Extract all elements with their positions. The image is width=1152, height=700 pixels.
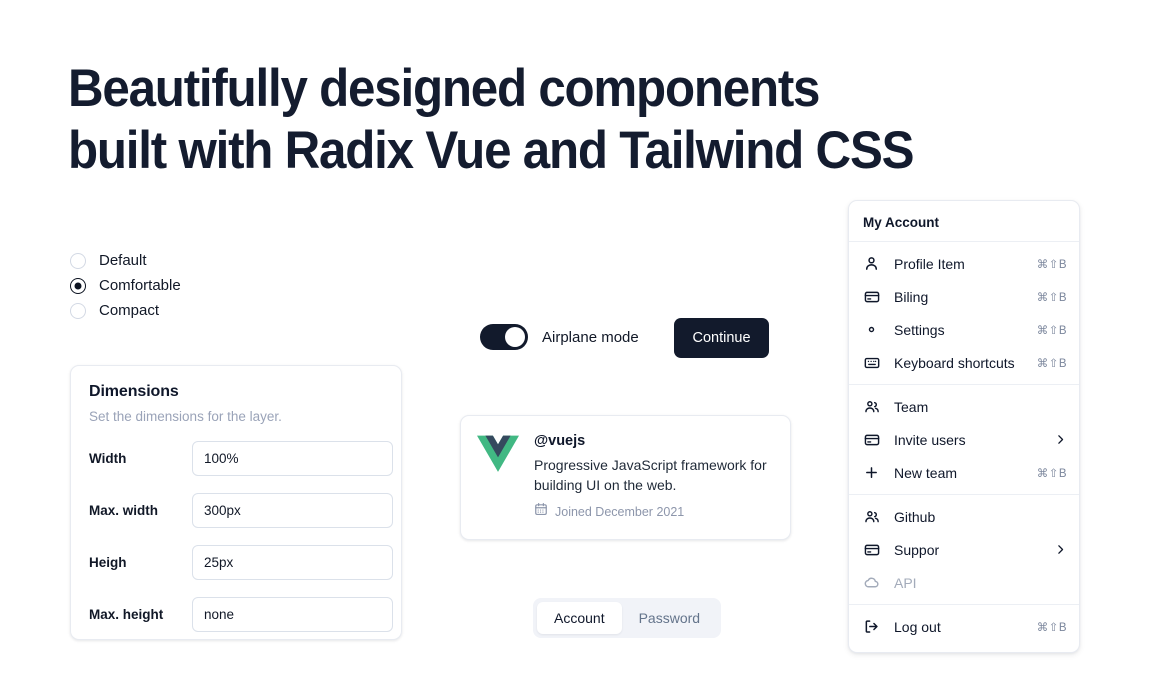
menu-item-label: API — [894, 575, 1067, 591]
page-title-line-2: built with Radix Vue and Tailwind CSS — [68, 120, 961, 182]
settings-tabs[interactable]: AccountPassword — [533, 598, 721, 638]
dimension-row: Max. height — [89, 597, 383, 632]
users-icon — [863, 398, 880, 415]
airplane-mode-label: Airplane mode — [542, 329, 639, 346]
credit-card-icon — [863, 431, 880, 448]
menu-item-log-out[interactable]: Log out⌘⇧B — [849, 610, 1079, 643]
menu-group: TeamInvite usersNew team⌘⇧B — [849, 385, 1079, 494]
page-title: Beautifully designed components built wi… — [68, 58, 961, 182]
users-icon — [863, 508, 880, 525]
chevron-right-icon — [1053, 543, 1067, 557]
dimension-row: Heigh — [89, 545, 383, 580]
airplane-mode-switch[interactable] — [480, 324, 528, 350]
radio-label: Compact — [99, 302, 159, 319]
calendar-icon — [534, 502, 548, 521]
menu-item-label: Keyboard shortcuts — [894, 355, 1037, 371]
menu-item-label: Biling — [894, 289, 1037, 305]
dimension-label: Heigh — [89, 555, 192, 570]
vue-hover-card: @vuejs Progressive JavaScript framework … — [460, 415, 791, 540]
menu-item-shortcut: ⌘⇧B — [1037, 323, 1067, 337]
menu-group: Log out⌘⇧B — [849, 605, 1079, 648]
density-radio-group[interactable]: DefaultComfortableCompact — [70, 248, 181, 323]
menu-item-shortcut: ⌘⇧B — [1037, 620, 1067, 634]
gear-icon — [863, 321, 880, 338]
account-dropdown-menu: My Account Profile Item⌘⇧BBiling⌘⇧BSetti… — [848, 200, 1080, 653]
menu-item-settings[interactable]: Settings⌘⇧B — [849, 313, 1079, 346]
menu-item-team[interactable]: Team — [849, 390, 1079, 423]
dimension-input-heigh[interactable] — [192, 545, 393, 580]
vue-description: Progressive JavaScript framework for bui… — [534, 455, 774, 495]
menu-item-label: Profile Item — [894, 256, 1037, 272]
menu-item-keyboard-shortcuts[interactable]: Keyboard shortcuts⌘⇧B — [849, 346, 1079, 379]
radio-label: Comfortable — [99, 277, 181, 294]
dimension-input-max-height[interactable] — [192, 597, 393, 632]
menu-item-shortcut: ⌘⇧B — [1037, 290, 1067, 304]
menu-group: Profile Item⌘⇧BBiling⌘⇧BSettings⌘⇧BKeybo… — [849, 242, 1079, 384]
menu-item-biling[interactable]: Biling⌘⇧B — [849, 280, 1079, 313]
radio-label: Default — [99, 252, 147, 269]
logout-icon — [863, 618, 880, 635]
menu-item-label: Suppor — [894, 542, 1053, 558]
menu-group: GithubSupporAPI — [849, 495, 1079, 604]
credit-card-icon — [863, 541, 880, 558]
credit-card-icon — [863, 288, 880, 305]
dimension-label: Max. width — [89, 503, 192, 518]
menu-item-label: New team — [894, 465, 1037, 481]
menu-item-label: Settings — [894, 322, 1037, 338]
dimensions-card: Dimensions Set the dimensions for the la… — [70, 365, 402, 640]
menu-item-new-team[interactable]: New team⌘⇧B — [849, 456, 1079, 489]
continue-button[interactable]: Continue — [674, 318, 769, 358]
menu-item-shortcut: ⌘⇧B — [1037, 466, 1067, 480]
keyboard-icon — [863, 354, 880, 371]
dimension-input-width[interactable] — [192, 441, 393, 476]
page-title-line-1: Beautifully designed components — [68, 58, 961, 120]
plus-icon — [863, 464, 880, 481]
vue-joined-row: Joined December 2021 — [534, 502, 774, 521]
vue-handle: @vuejs — [534, 433, 774, 449]
radio-option-default[interactable]: Default — [70, 248, 181, 273]
dimension-label: Max. height — [89, 607, 192, 622]
menu-item-invite-users[interactable]: Invite users — [849, 423, 1079, 456]
dimensions-subtitle: Set the dimensions for the layer. — [89, 409, 383, 424]
user-icon — [863, 255, 880, 272]
menu-item-label: Github — [894, 509, 1067, 525]
airplane-mode-row[interactable]: Airplane mode — [480, 324, 639, 350]
dimension-input-max-width[interactable] — [192, 493, 393, 528]
cloud-icon — [863, 574, 880, 591]
menu-item-shortcut: ⌘⇧B — [1037, 356, 1067, 370]
radio-mark[interactable] — [70, 303, 86, 319]
menu-item-shortcut: ⌘⇧B — [1037, 257, 1067, 271]
tab-password[interactable]: Password — [622, 602, 717, 634]
vue-logo — [477, 435, 519, 473]
dimensions-title: Dimensions — [89, 383, 383, 401]
menu-item-label: Invite users — [894, 432, 1053, 448]
chevron-right-icon — [1053, 433, 1067, 447]
radio-option-comfortable[interactable]: Comfortable — [70, 273, 181, 298]
radio-option-compact[interactable]: Compact — [70, 298, 181, 323]
radio-mark[interactable] — [70, 253, 86, 269]
dimension-row: Width — [89, 441, 383, 476]
menu-header: My Account — [849, 205, 1079, 241]
dimension-label: Width — [89, 451, 192, 466]
tab-account[interactable]: Account — [537, 602, 622, 634]
radio-mark[interactable] — [70, 278, 86, 294]
switch-knob — [505, 327, 525, 347]
menu-item-label: Team — [894, 399, 1067, 415]
menu-item-profile-item[interactable]: Profile Item⌘⇧B — [849, 247, 1079, 280]
menu-item-api: API — [849, 566, 1079, 599]
dimension-row: Max. width — [89, 493, 383, 528]
menu-item-github[interactable]: Github — [849, 500, 1079, 533]
vue-joined-text: Joined December 2021 — [555, 505, 684, 519]
menu-item-label: Log out — [894, 619, 1037, 635]
menu-item-suppor[interactable]: Suppor — [849, 533, 1079, 566]
